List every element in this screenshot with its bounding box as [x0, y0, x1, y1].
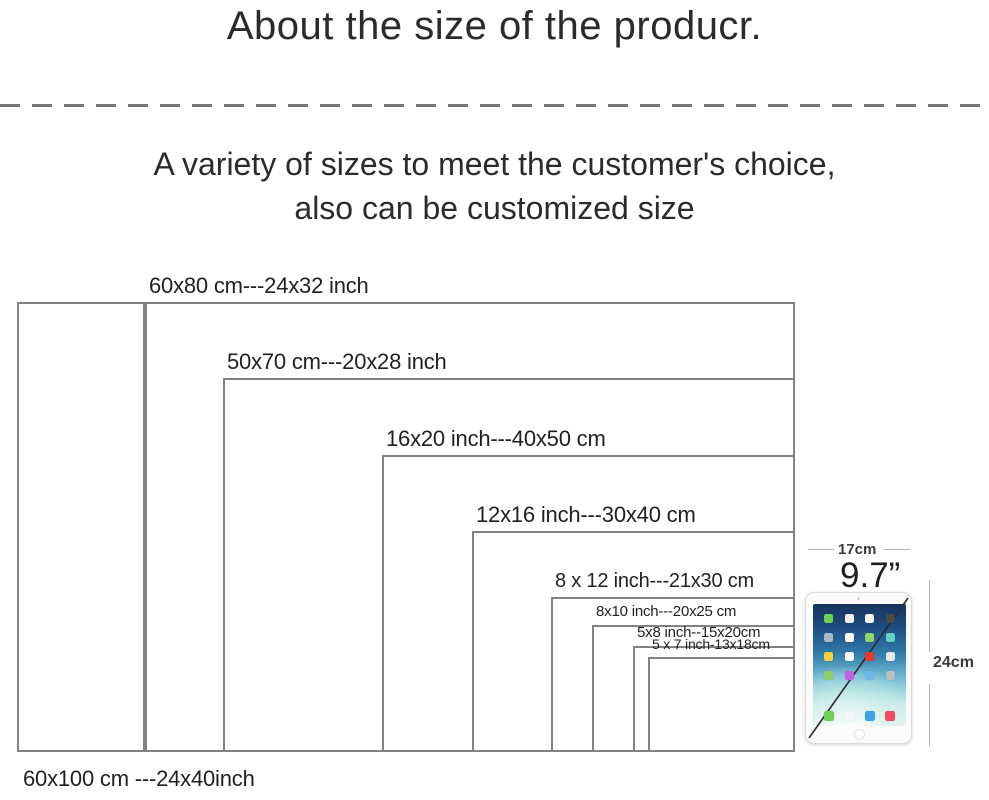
ipad-dock-icon-4: [885, 711, 895, 721]
ipad-app-icon-2: [845, 614, 854, 623]
subtitle-line-1: A variety of sizes to meet the customer'…: [154, 146, 836, 182]
size-label-21x30: 8 x 12 inch---21x30 cm: [555, 570, 754, 593]
ipad-app-icon-6: [845, 633, 854, 642]
ipad-camera-icon: [857, 597, 860, 600]
ipad-height-guide-top: [929, 580, 930, 652]
ipad-app-icon-7: [865, 633, 874, 642]
size-rect-13x18: [648, 657, 795, 752]
ipad-dock-icon-3: [865, 711, 875, 721]
ipad-height-label: 24cm: [933, 654, 974, 672]
ipad-app-icon-1: [824, 614, 833, 623]
ipad-diagonal-label: 9.7”: [840, 556, 900, 596]
ipad-app-icon-15: [865, 671, 874, 680]
ipad-app-icon-grid: [818, 614, 901, 680]
page-subtitle: A variety of sizes to meet the customer'…: [0, 142, 989, 230]
dashed-divider: [0, 104, 989, 107]
ipad-screen: [813, 604, 906, 726]
ipad-height-guide-bottom: [929, 684, 930, 746]
size-label-13x18: 5 x 7 inch-13x18cm: [652, 636, 770, 652]
ipad-app-icon-8: [886, 633, 895, 642]
ipad-dock: [813, 711, 906, 721]
ipad-app-icon-14: [845, 671, 854, 680]
ipad-width-guide-right: [884, 549, 910, 550]
size-chart-page: About the size of the producr. A variety…: [0, 0, 989, 800]
size-label-30x40: 12x16 inch---30x40 cm: [476, 502, 696, 528]
ipad-app-icon-9: [824, 652, 833, 661]
size-label-20x25: 8x10 inch---20x25 cm: [596, 603, 736, 620]
ipad-app-icon-11: [865, 652, 874, 661]
size-label-40x50: 16x20 inch---40x50 cm: [386, 426, 606, 452]
ipad-width-guide-left: [808, 549, 834, 550]
ipad-app-icon-12: [886, 652, 895, 661]
subtitle-line-2: also can be customized size: [0, 186, 989, 230]
ipad-dock-icon-2: [844, 711, 854, 721]
ipad-app-icon-10: [845, 652, 854, 661]
size-rect-60x100: [17, 302, 145, 752]
ipad-device: [805, 592, 912, 744]
ipad-app-icon-3: [865, 614, 874, 623]
ipad-dock-icon-1: [824, 711, 834, 721]
ipad-home-button-icon: [854, 729, 865, 740]
size-label-60x100: 60x100 cm ---24x40inch: [23, 766, 255, 792]
size-label-50x70: 50x70 cm---20x28 inch: [227, 349, 447, 375]
ipad-status-bar: [813, 604, 906, 611]
size-label-60x80: 60x80 cm---24x32 inch: [149, 273, 369, 299]
ipad-app-icon-4: [886, 614, 895, 623]
ipad-app-icon-5: [824, 633, 833, 642]
ipad-app-icon-13: [824, 671, 833, 680]
page-title: About the size of the producr.: [0, 4, 989, 49]
ipad-app-icon-16: [886, 671, 895, 680]
